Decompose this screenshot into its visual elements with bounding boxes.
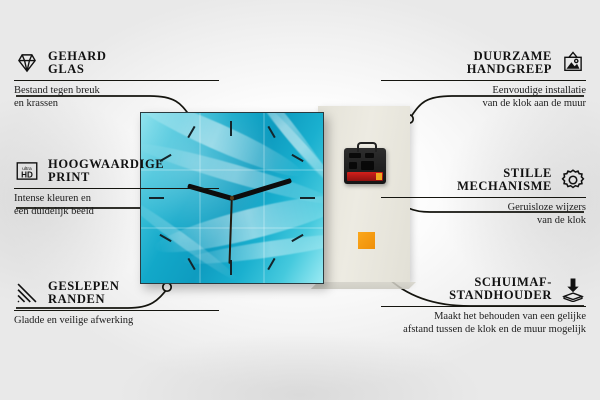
- feature-rule: [381, 80, 586, 81]
- feature-title-line2: GLAS: [48, 63, 106, 76]
- feature-title-line1: HOOGWAARDIGE: [48, 158, 164, 171]
- gear-icon: [560, 167, 586, 193]
- feature-geslepen-randen: GESLEPEN RANDEN Gladde en veilige afwerk…: [14, 280, 219, 328]
- ultra-hd-icon: ultra HD: [14, 158, 40, 184]
- tick-3: [300, 197, 315, 199]
- feature-title-line1: STILLE: [503, 167, 552, 180]
- feature-title-line2: RANDEN: [48, 293, 120, 306]
- feature-rule: [14, 188, 219, 189]
- feature-rule: [14, 80, 219, 81]
- feature-stille-mechanisme: STILLE MECHANISME Geruisloze wijzers van…: [381, 167, 586, 227]
- press-down-pad-icon: [560, 276, 586, 302]
- feature-title-line2: MECHANISME: [457, 180, 552, 193]
- framed-picture-icon: [560, 50, 586, 76]
- movement-hanger: [357, 142, 377, 152]
- feature-gehard-glas: GEHARD GLAS Bestand tegen breuk en krass…: [14, 50, 219, 110]
- feature-description: Gladde en veilige afwerking: [14, 315, 219, 328]
- tick-1: [267, 126, 275, 138]
- feature-description: Geruisloze wijzers van de klok: [381, 202, 586, 228]
- svg-text:HD: HD: [21, 171, 33, 180]
- foam-spacer: [358, 232, 375, 249]
- feature-duurzame-handgreep: DUURZAME HANDGREEP Eenvoudige installati…: [381, 50, 586, 110]
- diamond-icon: [14, 50, 40, 76]
- feature-description: Intense kleuren en een duidelijk beeld: [14, 193, 219, 219]
- feature-title-line2: PRINT: [48, 171, 164, 184]
- beveled-edge-icon: [14, 280, 40, 306]
- feature-title-line1: SCHUIMAF-: [474, 276, 552, 289]
- battery: [347, 172, 383, 181]
- tick-12: [230, 121, 232, 136]
- infographic-canvas: GEHARD GLAS Bestand tegen breuk en krass…: [0, 0, 600, 400]
- clock-movement: [344, 148, 386, 184]
- feature-description: Eenvoudige installatie van de klok aan d…: [381, 85, 586, 111]
- hand-pin: [230, 196, 234, 200]
- feature-schuimafstandhouder: SCHUIMAF- STANDHOUDER Maakt het behouden…: [381, 276, 586, 336]
- feature-title-line2: STANDHOUDER: [449, 289, 552, 302]
- tick-5: [267, 258, 275, 270]
- feature-description: Bestand tegen breuk en krassen: [14, 85, 219, 111]
- feature-rule: [381, 306, 586, 307]
- feature-title-line1: DUURZAME: [474, 50, 552, 63]
- feature-rule: [381, 197, 586, 198]
- feature-rule: [14, 310, 219, 311]
- feature-title-line1: GEHARD: [48, 50, 106, 63]
- feature-title-line2: HANDGREEP: [467, 63, 552, 76]
- feature-description: Maakt het behouden van een gelijke afsta…: [381, 311, 586, 337]
- feature-title-line1: GESLEPEN: [48, 280, 120, 293]
- feature-hoogwaardige-print: ultra HD HOOGWAARDIGE PRINT Intense kleu…: [14, 158, 219, 218]
